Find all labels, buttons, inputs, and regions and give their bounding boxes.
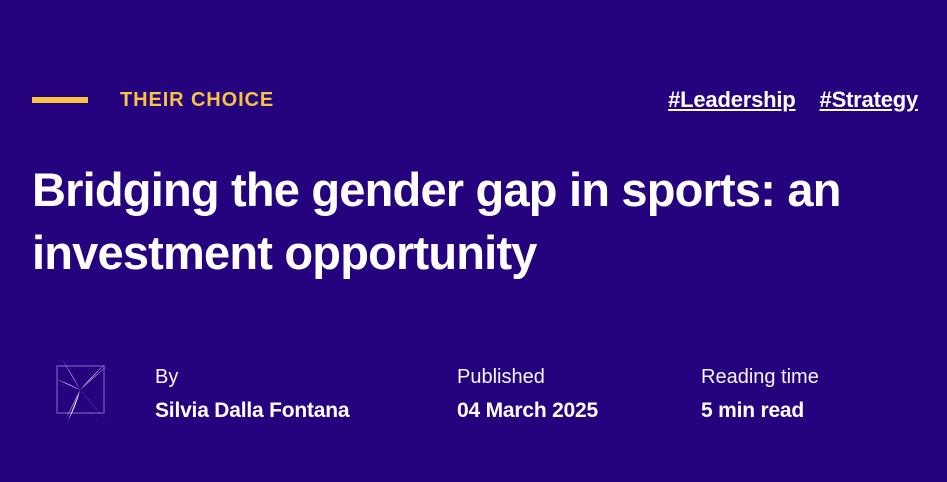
page-title: Bridging the gender gap in sports: an in… [32,158,932,284]
meta-published-label: Published [457,363,598,391]
eyebrow-left-group: THEIR CHOICE [32,90,274,110]
tag-list: #Leadership #Strategy [668,89,918,111]
tag-strategy[interactable]: #Strategy [820,89,918,111]
article-meta-row: By Silvia Dalla Fontana Published 04 Mar… [0,355,947,441]
gold-rule-icon [32,97,88,103]
meta-reading-time: Reading time 5 min read [701,363,819,426]
eyebrow-row: THEIR CHOICE #Leadership #Strategy [0,78,947,122]
meta-author-label: By [155,363,349,391]
meta-reading-time-label: Reading time [701,363,819,391]
meta-published-value: 04 March 2025 [457,396,598,426]
meta-author-value: Silvia Dalla Fontana [155,396,349,426]
meta-reading-time-value: 5 min read [701,396,819,426]
meta-author: By Silvia Dalla Fontana [155,363,349,426]
article-hero-banner: THEIR CHOICE #Leadership #Strategy Bridg… [0,0,947,482]
meta-published: Published 04 March 2025 [457,363,598,426]
category-label: THEIR CHOICE [120,90,274,110]
tag-leadership[interactable]: #Leadership [668,89,795,111]
